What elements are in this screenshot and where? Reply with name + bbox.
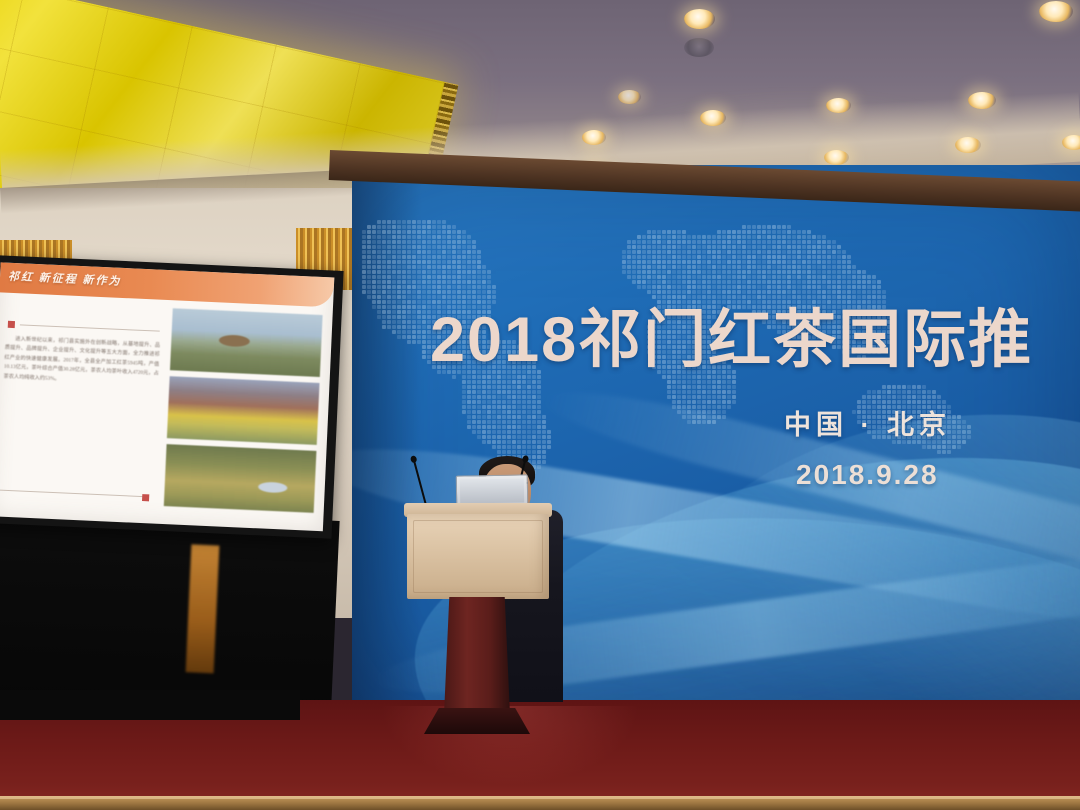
ceiling-spotlight [824, 150, 849, 165]
podium-base [424, 708, 530, 734]
slide-photo-pickers [164, 444, 317, 513]
ceiling-spotlight [582, 130, 606, 145]
slide-photo-terrace [167, 376, 320, 445]
slide-divider-top [20, 324, 160, 331]
ceiling-spotlight-dim [684, 38, 714, 57]
podium-column [444, 597, 510, 715]
ceiling-spotlight [700, 110, 726, 126]
ceiling-spotlight [684, 9, 715, 29]
backdrop-subtitle: 中国 · 北京 [784, 403, 951, 442]
podium-front-panel [407, 514, 549, 599]
stage-floor-shadow [0, 690, 300, 720]
ceiling-spotlight [618, 90, 641, 104]
presentation-slide: 祁红 新征程 新作为 进入新世纪以来，祁门县实施外在创新战略，从基地提升、品质提… [0, 262, 334, 531]
ceiling-spotlight [826, 98, 851, 113]
ceiling-spotlight [968, 92, 996, 109]
slide-bullet-marker-icon [8, 321, 15, 328]
slide-photo-pavilion [170, 308, 323, 377]
slide-bullet-marker-2-icon [142, 494, 149, 501]
curtain-light-strip-icon [186, 544, 220, 673]
projection-screen: 祁红 新征程 新作为 进入新世纪以来，祁门县实施外在创新战略，从基地提升、品质提… [0, 255, 344, 539]
slide-paragraph: 进入新世纪以来，祁门县实施外在创新战略，从基地提升、品质提升、品牌提升、企业提升… [3, 335, 160, 389]
photo-scene: 2018祁门红茶国际推 中国 · 北京 2018.9.28 祁红 新征程 新作为… [0, 0, 1080, 810]
podium [404, 503, 552, 803]
slide-photo-column [164, 308, 323, 519]
backdrop-main-title: 2018祁门红茶国际推 [430, 289, 1033, 380]
ceiling-spotlight [1062, 135, 1080, 150]
ceiling-spotlight [955, 137, 981, 153]
slide-body: 进入新世纪以来，祁门县实施外在创新战略，从基地提升、品质提升、品牌提升、企业提升… [0, 292, 333, 531]
backdrop-date: 2018.9.28 [796, 459, 939, 491]
slide-divider-bottom [0, 490, 146, 498]
ceiling-spotlight [1039, 1, 1073, 22]
